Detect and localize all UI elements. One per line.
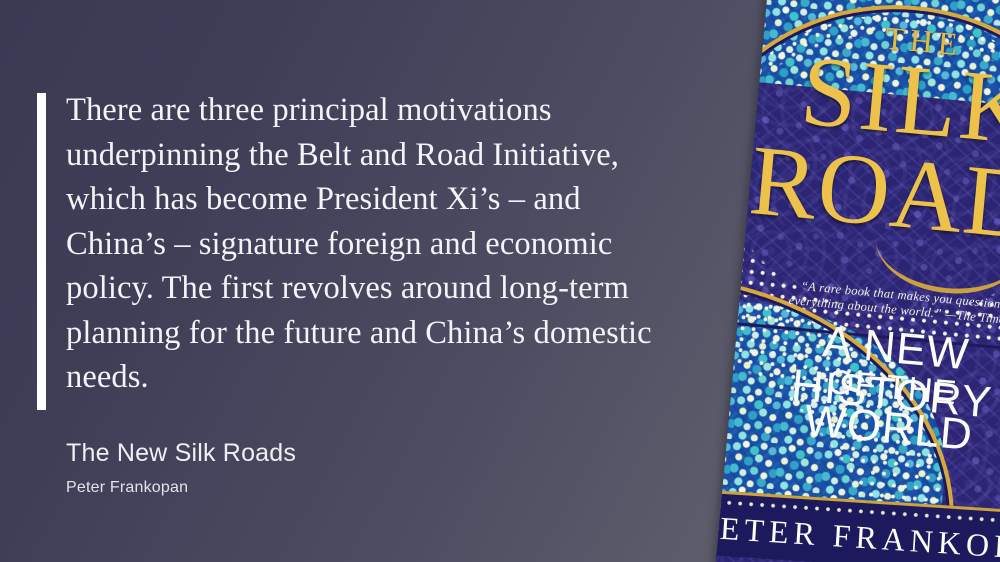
quote-text: There are three principal motivations un… [66,88,676,400]
source-title: The New Silk Roads [66,438,626,468]
source-author: Peter Frankopan [66,478,626,497]
book-cover-image: THE SILK ROADS “A rare book that makes y… [714,0,1000,562]
quote-slide: There are three principal motivations un… [0,0,1000,562]
attribution-block: The New Silk Roads Peter Frankopan [66,438,626,497]
quote-accent-rule [37,93,46,410]
